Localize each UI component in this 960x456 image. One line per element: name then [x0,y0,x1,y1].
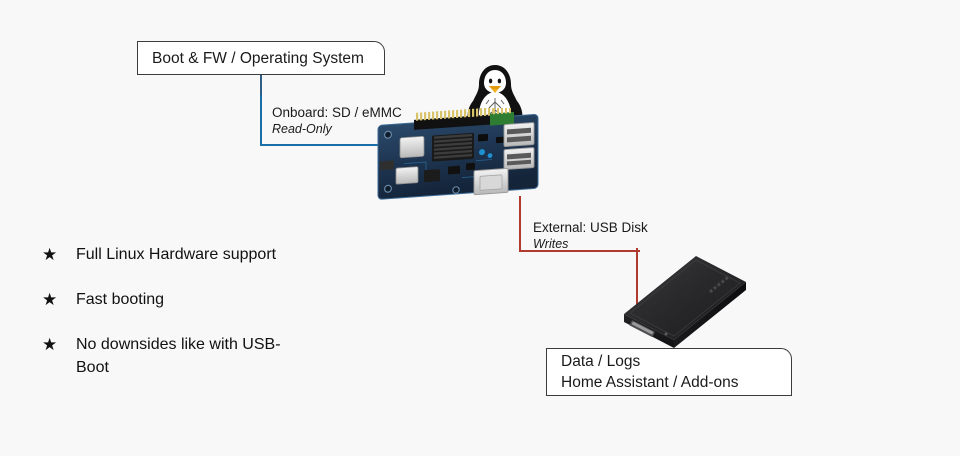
data-logs-line-2: Home Assistant / Add-ons [561,372,777,393]
list-item: ★ No downsides like with USB-Boot [38,333,338,379]
data-logs-line-1: Data / Logs [561,351,777,372]
bullet-text-2: No downsides like with USB-Boot [76,333,291,379]
benefits-bullet-list: ★ Full Linux Hardware support ★ Fast boo… [38,243,338,401]
diagram-canvas: Boot & FW / Operating System Onboard: SD… [0,0,960,456]
bullet-text-1: Fast booting [76,288,164,311]
list-item: ★ Full Linux Hardware support [38,243,338,266]
boot-firmware-os-box: Boot & FW / Operating System [137,41,385,75]
star-icon: ★ [38,333,76,356]
external-storage-title: External: USB Disk [533,219,713,236]
boot-box-connector-stub [260,75,262,96]
external-usb-disk-image [612,242,752,352]
star-icon: ★ [38,288,76,311]
star-icon: ★ [38,243,76,266]
bullet-text-0: Full Linux Hardware support [76,243,276,266]
boot-firmware-os-label: Boot & FW / Operating System [152,48,370,69]
list-item: ★ Fast booting [38,288,338,311]
data-logs-box: Data / Logs Home Assistant / Add-ons [546,348,792,396]
